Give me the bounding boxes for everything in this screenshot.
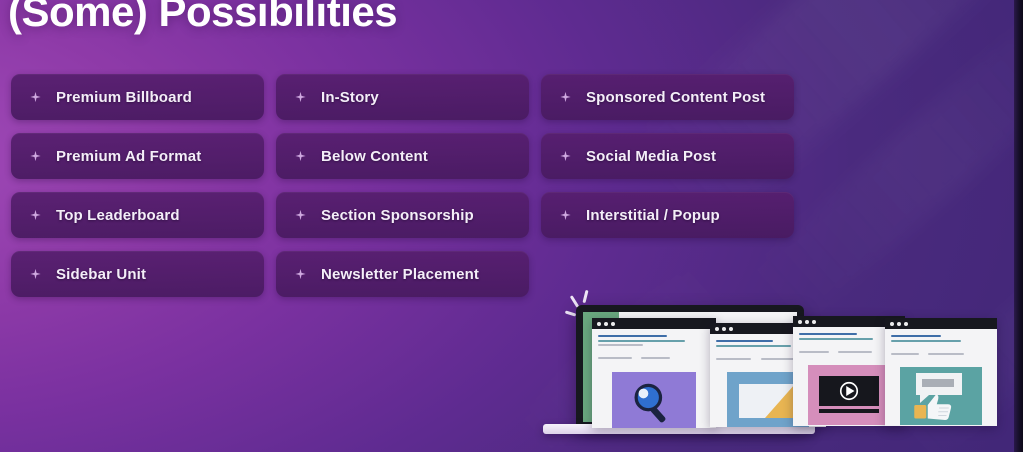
thumbs-up-icon xyxy=(913,393,959,423)
possibility-card-label: Newsletter Placement xyxy=(321,266,479,283)
text-lines xyxy=(891,335,991,362)
possibility-card[interactable]: Top Leaderboard xyxy=(11,192,264,238)
panel-social xyxy=(900,367,982,425)
possibility-card-label: Below Content xyxy=(321,148,428,165)
sparkle-icon xyxy=(29,91,42,104)
possibility-card-label: Sponsored Content Post xyxy=(586,89,765,106)
possibility-card[interactable]: Premium Ad Format xyxy=(11,133,264,179)
possibility-card-label: Section Sponsorship xyxy=(321,207,474,224)
possibility-card[interactable]: Section Sponsorship xyxy=(276,192,529,238)
sparkle-icon xyxy=(294,91,307,104)
browser-window-social[interactable] xyxy=(885,318,997,426)
laptop-with-browser-windows-illustration xyxy=(565,288,1015,452)
column-2: In-StoryBelow ContentSection Sponsorship… xyxy=(276,74,529,310)
possibility-card[interactable]: Below Content xyxy=(276,133,529,179)
window-chrome xyxy=(592,318,716,329)
video-play-icon xyxy=(838,380,860,402)
possibility-card[interactable]: Sponsored Content Post xyxy=(541,74,794,120)
sparkle-icon xyxy=(559,209,572,222)
sparkle-icon xyxy=(29,150,42,163)
sparkle-icon xyxy=(29,268,42,281)
column-3: Sponsored Content PostSocial Media PostI… xyxy=(541,74,794,251)
possibility-card-label: Premium Ad Format xyxy=(56,148,201,165)
possibility-card-label: Social Media Post xyxy=(586,148,716,165)
possibility-card[interactable]: Social Media Post xyxy=(541,133,794,179)
sparkle-icon xyxy=(559,150,572,163)
possibility-card[interactable]: In-Story xyxy=(276,74,529,120)
possibility-card-label: Sidebar Unit xyxy=(56,266,146,283)
possibility-card[interactable]: Premium Billboard xyxy=(11,74,264,120)
possibility-card-label: In-Story xyxy=(321,89,379,106)
text-lines xyxy=(598,335,710,367)
text-lines xyxy=(799,333,899,360)
column-1: Premium BillboardPremium Ad FormatTop Le… xyxy=(11,74,264,310)
window-chrome xyxy=(885,318,997,329)
possibility-card-label: Interstitial / Popup xyxy=(586,207,720,224)
sparkle-icon xyxy=(559,91,572,104)
possibility-card[interactable]: Sidebar Unit xyxy=(11,251,264,297)
possibility-card-label: Top Leaderboard xyxy=(56,207,180,224)
panel-search xyxy=(612,372,696,429)
image-icon xyxy=(739,384,795,418)
slide-canvas: (Some) Possibilities Premium BillboardPr… xyxy=(0,0,1023,452)
magnifier-icon xyxy=(628,378,680,429)
panel-video xyxy=(808,365,890,425)
sparkle-icon xyxy=(29,209,42,222)
slide-right-edge xyxy=(1014,0,1023,452)
possibility-card[interactable]: Interstitial / Popup xyxy=(541,192,794,238)
browser-window-search[interactable] xyxy=(592,318,716,428)
possibility-card-label: Premium Billboard xyxy=(56,89,192,106)
sparkle-icon xyxy=(294,209,307,222)
sparkle-icon xyxy=(294,150,307,163)
page-title: (Some) Possibilities xyxy=(8,0,397,36)
sparkle-icon xyxy=(294,268,307,281)
possibility-card[interactable]: Newsletter Placement xyxy=(276,251,529,297)
